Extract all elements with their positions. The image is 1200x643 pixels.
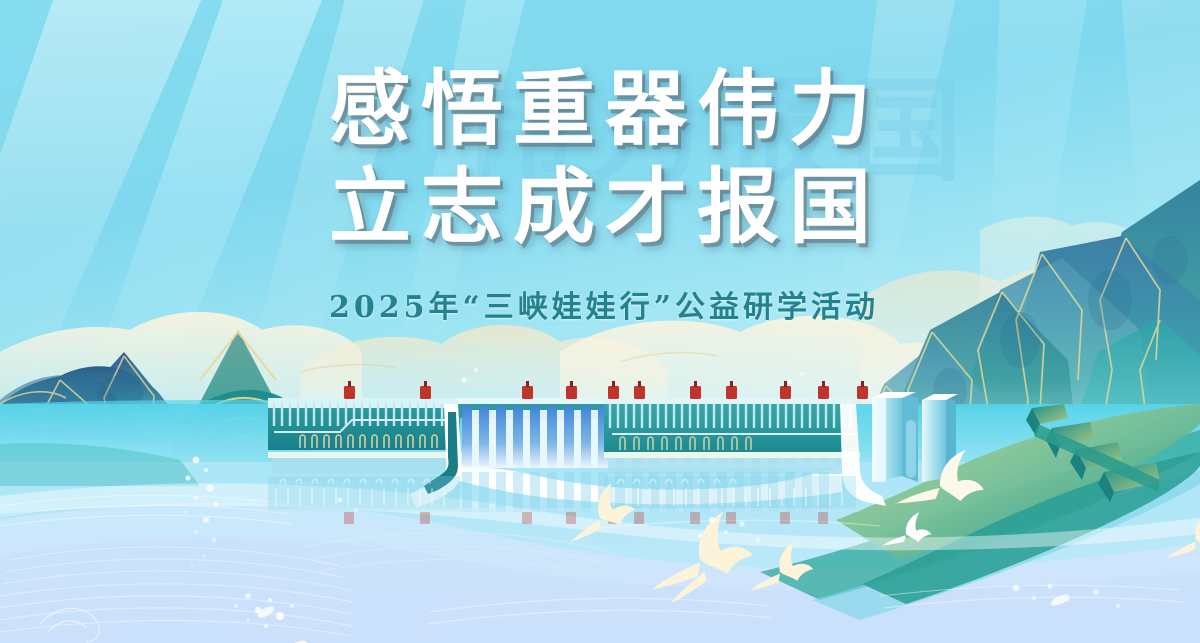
swallow-bird-icon [563, 440, 1200, 604]
water-bubbles [184, 368, 1120, 628]
text-block: 感悟重器伟力 立志成才报国 2025年“三峡娃娃行”公益研学活动 [0, 64, 1200, 326]
title-line-2: 立志成才报国 [0, 162, 1200, 254]
banner-root: 伟力报国 [0, 0, 1200, 643]
subtitle: 2025年“三峡娃娃行”公益研学活动 [0, 282, 1200, 326]
title-line-1: 感悟重器伟力 [0, 64, 1200, 156]
